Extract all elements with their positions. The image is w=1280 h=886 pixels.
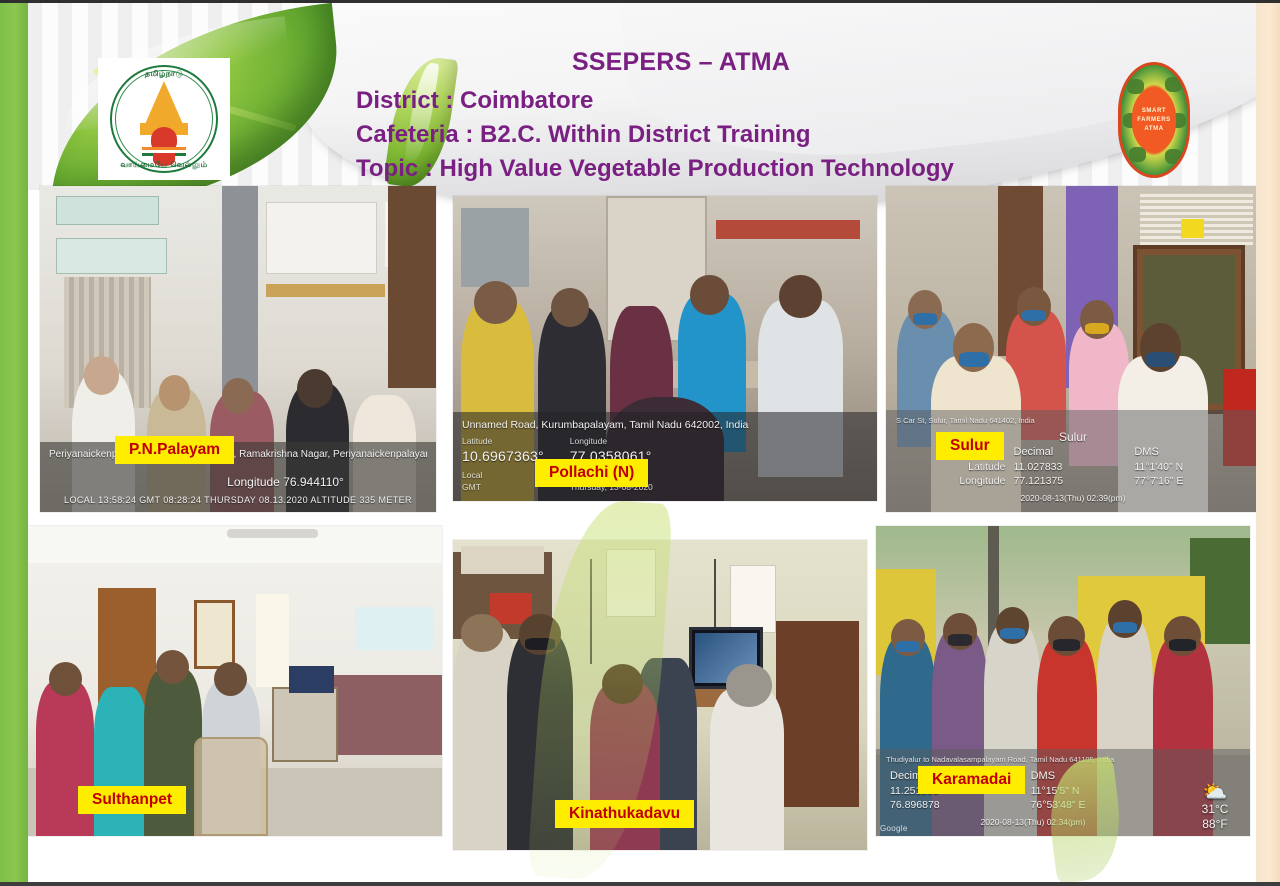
attendee-head	[943, 613, 977, 650]
attendee-head	[461, 614, 502, 651]
place-label-kinathukadavu: Kinathukadavu	[555, 800, 694, 828]
atma-logo-line3: ATMA	[1144, 126, 1163, 132]
gps-footer: LOCAL 13:58:24 GMT 08:28:24 THURSDAY 08.…	[49, 494, 427, 506]
page-title: SSEPERS – ATMA	[356, 48, 1136, 77]
stored-bundles	[461, 546, 544, 574]
whiteboard	[266, 202, 377, 274]
emblem-top-script: தமிழ்நாடு	[112, 69, 216, 79]
emblem-circle: தமிழ்நாடு வாய்மையே வெல்லும்	[110, 65, 218, 173]
attendee-head	[891, 619, 925, 656]
presentation-slide: தமிழ்நாடு வாய்மையே வெல்லும் SMART FARMER…	[0, 0, 1280, 886]
gps-gmt-label: GMT	[462, 482, 544, 493]
place-label-pollachi-north: Pollachi (N)	[535, 459, 648, 487]
attendee-head	[474, 281, 516, 324]
atma-logo-line2: FARMERS	[1137, 117, 1171, 123]
google-watermark: Google	[880, 824, 908, 833]
laptop	[289, 666, 335, 694]
attendee-head	[159, 375, 191, 411]
tamil-nadu-emblem-logo: தமிழ்நாடு வாய்மையே வெல்லும்	[98, 58, 230, 180]
gps-longitude-label: Longitude	[227, 475, 280, 489]
gps-coordinates: Latitude 10.6967363° Local GMT Longitude…	[462, 436, 868, 493]
plastic-chair	[194, 737, 269, 836]
place-label-karamadai: Karamadai	[918, 766, 1025, 794]
attendee-head	[49, 662, 82, 696]
gps-overlay: Periyanaickenpalayam, Mettupalayam Rd, R…	[40, 442, 436, 512]
atma-photo-tile	[1165, 77, 1182, 92]
attendee-head	[551, 288, 589, 328]
photo-pn-palayam[interactable]: Periyanaickenpalayam, Mettupalayam Rd, R…	[40, 186, 436, 512]
gps-longitude-value: 76.944110°	[283, 475, 344, 489]
slide-top-border	[0, 0, 1280, 3]
weather-widget: ⛅ 31°C 88°F	[1184, 782, 1246, 832]
header-line-topic: Topic : High Value Vegetable Production …	[356, 152, 1136, 186]
attendee-head	[996, 607, 1030, 644]
attendee-head	[953, 323, 994, 372]
photo-pollachi-north[interactable]: Unnamed Road, Kurumbapalayam, Tamil Nadu…	[453, 196, 877, 501]
gps-overlay: S Car St, Sulur, Tamil Nadu 641402, Indi…	[886, 410, 1260, 512]
header-line-district: District : Coimbatore	[356, 84, 1136, 118]
wall-poster	[56, 196, 159, 225]
attendee-head	[1140, 323, 1181, 372]
attendee-head	[1108, 600, 1142, 637]
equipment-cart	[272, 687, 338, 761]
ceiling-fan	[227, 529, 318, 538]
gps-address: Thudiyalur to Nadavalasampalayam Road, T…	[886, 755, 1180, 765]
gps-latitude-dms: 11°1'40" N	[1130, 460, 1250, 474]
attendee-head	[726, 664, 772, 707]
atma-logo-core: SMART FARMERS ATMA	[1132, 88, 1176, 152]
photo-sulur[interactable]: S Car St, Sulur, Tamil Nadu 641402, Indi…	[886, 186, 1260, 512]
attendee	[710, 689, 785, 850]
gps-latitude-decimal: 11.027833	[1010, 460, 1131, 474]
yellow-tag	[1181, 219, 1203, 239]
place-label-sulthanpet: Sulthanpet	[78, 786, 186, 814]
atma-logo-line1: SMART	[1142, 108, 1166, 114]
gps-address: Unnamed Road, Kurumbapalayam, Tamil Nadu…	[462, 418, 868, 432]
gps-longitude-decimal: 77.121375	[1010, 474, 1131, 488]
window	[461, 208, 529, 287]
sofa	[334, 675, 442, 756]
wall-shelf	[716, 220, 860, 238]
gps-overlay: Unnamed Road, Kurumbapalayam, Tamil Nadu…	[453, 412, 877, 501]
lit-doorway	[256, 594, 289, 687]
photo-sulthanpet[interactable]: Sulthanpet	[28, 526, 442, 836]
attendee-head	[222, 378, 254, 414]
gps-longitude-label: Longitude	[570, 436, 653, 447]
attendee-head	[779, 275, 821, 318]
wall-chart	[730, 565, 776, 633]
wooden-cupboard	[776, 621, 859, 807]
attendee-head	[690, 275, 728, 315]
gps-local-label: Local	[462, 470, 544, 481]
gps-longitude-decimal: 76.896878	[886, 798, 1027, 812]
wall-band	[266, 284, 385, 297]
gps-timestamp: 2020-08-13(Thu) 02:39(pm)	[896, 493, 1250, 504]
header-line-cafeteria: Cafeteria : B2.C. Within District Traini…	[356, 118, 1136, 152]
window	[194, 600, 235, 668]
atma-photo-tile	[1165, 149, 1182, 164]
cloud-sun-icon: ⛅	[1184, 782, 1246, 802]
gps-dms-header: DMS	[1130, 445, 1250, 460]
slide-right-border	[1256, 0, 1280, 886]
slide-left-border	[0, 0, 28, 886]
gps-latitude-label: Latitude	[462, 436, 544, 447]
gps-longitude-dms: 77°7'16" E	[1130, 474, 1250, 488]
gps-longitude: Longitude 76.944110°	[49, 474, 427, 490]
gps-address: S Car St, Sulur, Tamil Nadu 641402, Indi…	[896, 416, 1250, 426]
gps-timestamp: 2020-08-13(Thu) 02:34(pm)	[886, 817, 1180, 828]
slide-header: SSEPERS – ATMA District : Coimbatore Caf…	[356, 48, 1136, 186]
gps-decimal-header: Decimal	[1010, 445, 1131, 460]
temperature-celsius: 31°C	[1184, 802, 1246, 817]
place-label-pn-palayam: P.N.Palayam	[115, 436, 234, 464]
wall-poster	[56, 238, 167, 274]
gps-latitude-label: Latitude	[896, 460, 1010, 474]
gps-address: Periyanaickenpalayam, Mettupalayam Rd, R…	[49, 448, 427, 462]
projection-screen	[355, 607, 434, 650]
door	[388, 186, 436, 388]
gps-latitude-value: 10.6967363°	[462, 447, 544, 466]
temperature-fahrenheit: 88°F	[1184, 817, 1246, 832]
attendee-head	[84, 356, 120, 395]
gps-latitude: Latitude 10.6967363° Local GMT	[462, 436, 544, 493]
slide-bottom-border	[0, 882, 1280, 886]
place-label-sulur: Sulur	[936, 432, 1004, 460]
emblem-bottom-script: வாய்மையே வெல்லும்	[112, 160, 216, 170]
gps-longitude-label: Longitude	[896, 474, 1010, 488]
attendee-head	[1017, 287, 1051, 326]
attendee-head	[297, 369, 333, 408]
